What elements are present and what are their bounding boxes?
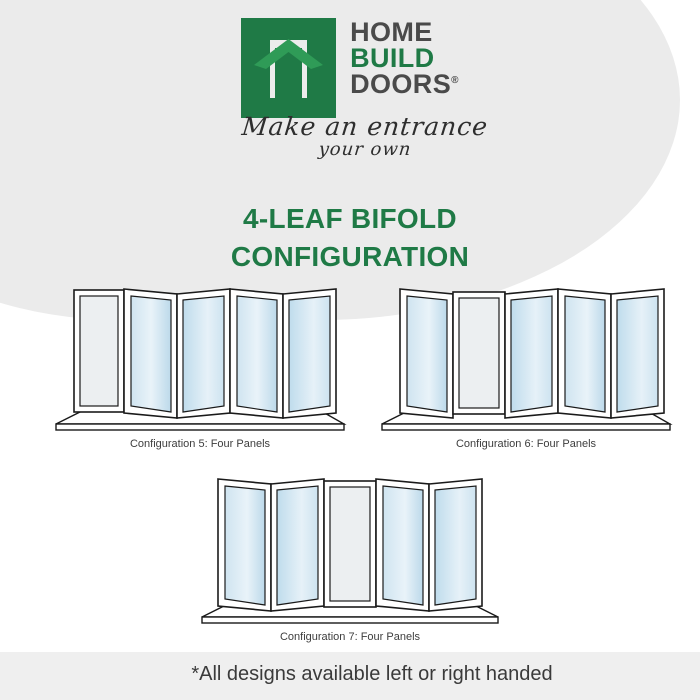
tagline-line-2: your own [241, 139, 489, 160]
panel-leaf-2 [271, 479, 324, 611]
diagram-7-caption: Configuration 7: Four Panels [198, 631, 502, 643]
panel-leaf-left-open [400, 289, 453, 418]
footer-note: *All designs available left or right han… [0, 663, 700, 686]
diagram-5-caption: Configuration 5: Four Panels [52, 438, 348, 450]
house-door-icon [241, 18, 336, 118]
panel-leaf-3 [230, 289, 283, 418]
panel-leaf-4 [429, 479, 482, 611]
panel-fixed-left [74, 290, 124, 412]
panel-leaf-1 [218, 479, 271, 611]
brand-logo: HOME BUILD DOORS® Make an entrance your … [0, 18, 700, 160]
panel-leaf-3 [558, 289, 611, 418]
panel-fixed-centre [324, 481, 376, 607]
diagram-5-drawing [52, 282, 348, 437]
panel-leaf-1 [124, 289, 177, 418]
roof-chevron-icon [254, 39, 323, 69]
page-title-line-1: 4-LEAF BIFOLD [0, 200, 700, 238]
page-title-line-2: CONFIGURATION [0, 238, 700, 276]
logo-line-doors: DOORS® [350, 72, 459, 98]
poster-canvas: HOME BUILD DOORS® Make an entrance your … [0, 0, 700, 700]
tagline-line-1: Make an entrance [240, 112, 489, 141]
panel-leaf-4 [611, 289, 664, 418]
logo-doors-text: DOORS [350, 69, 451, 99]
diagram-6-drawing [378, 282, 674, 437]
panel-leaf-3 [376, 479, 429, 611]
diagram-7-drawing [198, 472, 502, 630]
registered-trademark-icon: ® [451, 75, 459, 86]
panel-leaf-2 [177, 289, 230, 418]
diagram-6-caption: Configuration 6: Four Panels [378, 438, 674, 450]
logo-row: HOME BUILD DOORS® [241, 18, 459, 118]
diagram-configuration-7: Configuration 7: Four Panels [198, 472, 502, 643]
diagram-configuration-6: Configuration 6: Four Panels [378, 282, 674, 450]
diagram-configuration-5: Configuration 5: Four Panels [52, 282, 348, 450]
panel-fixed [453, 292, 505, 414]
brand-tagline: Make an entrance your own [242, 112, 488, 160]
page-title: 4-LEAF BIFOLD CONFIGURATION [0, 200, 700, 276]
panel-leaf-2 [505, 289, 558, 418]
panel-leaf-4 [283, 289, 336, 418]
logo-wordmark: HOME BUILD DOORS® [350, 18, 459, 98]
